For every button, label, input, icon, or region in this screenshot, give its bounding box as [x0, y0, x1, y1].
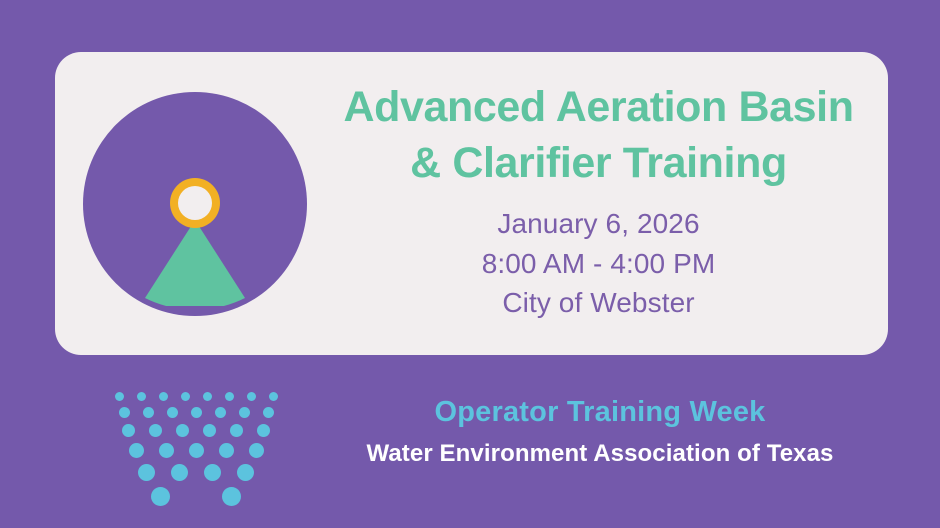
- logo-dot: [122, 424, 135, 437]
- branding-text-block: Operator Training Week Water Environment…: [300, 394, 900, 469]
- dot-row: [106, 405, 286, 419]
- logo-dot: [191, 407, 202, 418]
- logo-dot: [269, 392, 278, 401]
- logo-dot: [171, 464, 188, 481]
- logo-dot: [115, 392, 124, 401]
- logo-dot: [119, 407, 130, 418]
- logo-dot: [159, 392, 168, 401]
- logo-dot: [129, 443, 144, 458]
- logo-dot: [237, 464, 254, 481]
- event-title-line-2: & Clarifier Training: [335, 136, 862, 192]
- logo-dot: [149, 424, 162, 437]
- gold-ring-center: [178, 186, 212, 220]
- gold-ring-icon: [170, 178, 220, 228]
- logo-dot: [204, 464, 221, 481]
- logo-dot: [137, 392, 146, 401]
- logo-dot: [249, 443, 264, 458]
- weat-dot-funnel-logo-icon: [106, 390, 286, 490]
- dot-row: [106, 390, 286, 402]
- event-time: 8:00 AM - 4:00 PM: [335, 244, 862, 284]
- brand-title: Operator Training Week: [300, 394, 900, 430]
- logo-dot: [263, 407, 274, 418]
- logo-dot: [159, 443, 174, 458]
- logo-dot: [203, 392, 212, 401]
- logo-dot: [176, 424, 189, 437]
- logo-dot: [181, 392, 190, 401]
- logo-dot: [247, 392, 256, 401]
- event-card: Advanced Aeration Basin & Clarifier Trai…: [55, 52, 888, 355]
- card-text-block: Advanced Aeration Basin & Clarifier Trai…: [335, 80, 888, 327]
- dot-row: [106, 422, 286, 438]
- branding-strip: Operator Training Week Water Environment…: [0, 368, 940, 528]
- dot-row: [106, 485, 286, 507]
- logo-dot: [189, 443, 204, 458]
- brand-subtitle: Water Environment Association of Texas: [300, 438, 900, 469]
- training-emblem-icon: [83, 92, 307, 316]
- logo-dot: [151, 487, 170, 506]
- logo-dot: [143, 407, 154, 418]
- logo-dot: [138, 464, 155, 481]
- logo-dot: [230, 424, 243, 437]
- event-title: Advanced Aeration Basin & Clarifier Trai…: [335, 80, 862, 192]
- event-date: January 6, 2026: [335, 204, 862, 244]
- logo-dot: [222, 487, 241, 506]
- logo-dot: [167, 407, 178, 418]
- logo-dot: [219, 443, 234, 458]
- dot-row: [106, 441, 286, 459]
- emblem-container: [55, 52, 335, 355]
- logo-dot: [203, 424, 216, 437]
- logo-dot: [239, 407, 250, 418]
- event-title-line-1: Advanced Aeration Basin: [335, 80, 862, 136]
- event-poster: Advanced Aeration Basin & Clarifier Trai…: [0, 0, 940, 528]
- logo-dot: [215, 407, 226, 418]
- logo-dot: [257, 424, 270, 437]
- logo-dot: [225, 392, 234, 401]
- event-location: City of Webster: [335, 283, 862, 323]
- dot-row: [106, 462, 286, 482]
